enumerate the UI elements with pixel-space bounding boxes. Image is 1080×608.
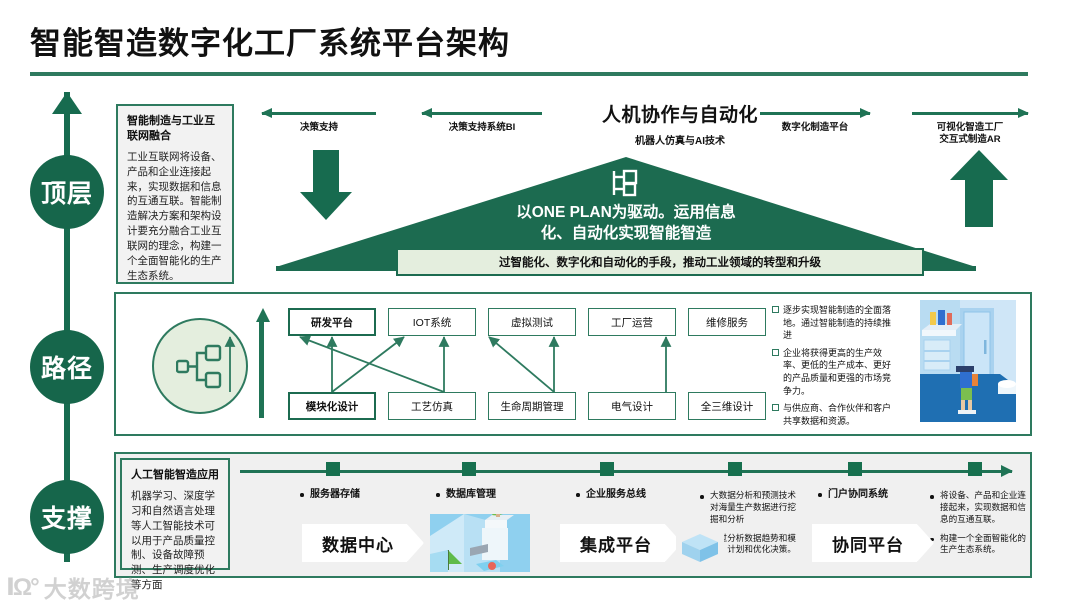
- top-headline-group: 人机协作与自动化 机器人仿真与AI技术: [560, 100, 800, 147]
- page-title: 智能智造数字化工厂系统平台架构: [30, 18, 510, 63]
- watermark: ⅠΩ° 大数跨境: [6, 570, 140, 604]
- bottom-note-body: 机器学习、深度学习和自然语言处理等人工智能技术可以用于产品质量控制、设备故障预测…: [131, 489, 219, 593]
- bottom-col-4: 门户协同系统: [818, 488, 928, 509]
- list-item: 逐步实现智能制造的全面落地。通过智能制造的持续推进: [772, 304, 898, 342]
- mid-box-top-2[interactable]: 虚拟测试: [488, 308, 576, 336]
- stage-circle-top[interactable]: 顶层: [30, 155, 104, 229]
- bottom-note-heading: 人工智能智造应用: [131, 468, 219, 483]
- mid-box-bottom-1[interactable]: 工艺仿真: [388, 392, 476, 420]
- flow-label: 决策支持系统BI: [422, 122, 542, 134]
- mid-box-top-3[interactable]: 工厂运营: [588, 308, 676, 336]
- network-nodes-icon: [176, 344, 226, 390]
- chevron-collaboration-platform[interactable]: 协同平台: [812, 524, 934, 562]
- arrow-head-left-icon: [261, 108, 272, 118]
- flow-label: 决策支持: [262, 122, 376, 134]
- bottom-col-2: 企业服务总线: [576, 488, 696, 509]
- bottom-col-1: 数据库管理: [436, 488, 546, 509]
- list-item: 企业服务总线: [576, 488, 696, 502]
- mid-box-bottom-0[interactable]: 模块化设计: [288, 392, 376, 420]
- slide-canvas: 智能智造数字化工厂系统平台架构 顶层 路径 支撑 智能制造与工业互联网融合 工业…: [0, 0, 1080, 608]
- bottom-note-card: 人工智能智造应用 机器学习、深度学习和自然语言处理等人工智能技术可以用于产品质量…: [120, 458, 230, 570]
- list-item: 构建一个全面智能化的生产生态系统。: [930, 533, 1026, 557]
- top-headline: 人机协作与自动化: [560, 100, 800, 127]
- bottom-col-0: 服务器存储: [300, 488, 410, 509]
- timeline-tick: [600, 462, 614, 476]
- office-illustration: [920, 300, 1016, 422]
- watermark-text: 大数跨境: [44, 570, 140, 604]
- mid-box-bottom-4[interactable]: 全三维设计: [688, 392, 766, 420]
- list-item: 将设备、产品和企业连接起来，实现数据和信息的互通互联。: [930, 490, 1026, 526]
- stage-circle-path[interactable]: 路径: [30, 330, 104, 404]
- timeline-tick: [968, 462, 982, 476]
- list-item: 企业将获得更高的生产效率、更低的生产成本、更好的产品质量和更强的市场竞争力。: [772, 347, 898, 397]
- flow-label: 可视化智造工厂 交互式制造AR: [912, 122, 1028, 147]
- top-subheadline: 机器人仿真与AI技术: [560, 132, 800, 147]
- data-center-illustration: [430, 514, 530, 572]
- pyramid-text: 以ONE PLAN为驱动。运用信息 化、自动化实现智能智造: [276, 203, 976, 245]
- top-note-heading: 智能制造与工业互联网融合: [127, 114, 223, 144]
- list-item: 数据库管理: [436, 488, 546, 502]
- mid-box-top-4[interactable]: 维修服务: [688, 308, 766, 336]
- timeline-tick: [462, 462, 476, 476]
- timeline-tick: [326, 462, 340, 476]
- bottom-col-5: 将设备、产品和企业连接起来，实现数据和信息的互通互联。 构建一个全面智能化的生产…: [930, 490, 1026, 563]
- process-hub-circle: [152, 318, 248, 414]
- watermark-logo-icon: ⅠΩ°: [6, 573, 38, 602]
- top-note-body: 工业互联网将设备、产品和企业连接起来，实现数据和信息的互通互联。智能制造解决方案…: [127, 150, 223, 284]
- stage-circle-support[interactable]: 支撑: [30, 480, 104, 554]
- chevron-label: 协同平台: [832, 531, 904, 556]
- mid-box-bottom-3[interactable]: 电气设计: [588, 392, 676, 420]
- timeline-tick: [848, 462, 862, 476]
- mid-box-bottom-2[interactable]: 生命周期管理: [488, 392, 576, 420]
- list-item: 服务器存储: [300, 488, 410, 502]
- chevron-label: 集成平台: [580, 531, 652, 556]
- spine-arrow-icon: [52, 92, 82, 114]
- mid-box-top-0[interactable]: 研发平台: [288, 308, 376, 336]
- arrow-head-right-icon: [1018, 108, 1029, 118]
- arrow-head-right-icon: [860, 108, 871, 118]
- mid-up-arrow-icon: [256, 308, 266, 418]
- middle-bullet-list: 逐步实现智能制造的全面落地。通过智能制造的持续推进 企业将获得更高的生产效率、更…: [772, 304, 898, 432]
- bottom-timeline: [240, 470, 1012, 473]
- chevron-integration-platform[interactable]: 集成平台: [560, 524, 682, 562]
- timeline-tick: [728, 462, 742, 476]
- mid-box-top-1[interactable]: IOT系统: [388, 308, 476, 336]
- arrow-head-left-icon: [421, 108, 432, 118]
- top-banner: 过智能化、数字化和自动化的手段，推动工业领域的转型和升级: [396, 248, 924, 276]
- list-item: 与供应商、合作伙伴和客户共享数据和资源。: [772, 402, 898, 427]
- list-item: 大数据分析和预测技术对海量生产数据进行挖掘和分析: [700, 490, 802, 526]
- title-divider: [30, 72, 1028, 76]
- top-note-card: 智能制造与工业互联网融合 工业互联网将设备、产品和企业连接起来，实现数据和信息的…: [116, 104, 234, 284]
- integration-illustration: [676, 524, 724, 570]
- chevron-label: 数据中心: [322, 531, 394, 556]
- list-item: 门户协同系统: [818, 488, 928, 502]
- chevron-data-center[interactable]: 数据中心: [302, 524, 424, 562]
- hierarchy-icon: [611, 167, 645, 199]
